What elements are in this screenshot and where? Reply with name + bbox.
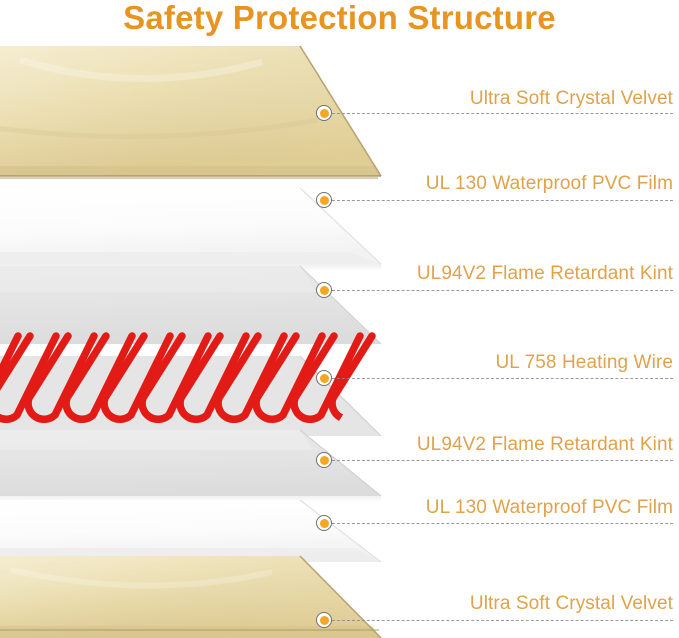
layer-label-knit-top: UL94V2 Flame Retardant Kint — [417, 263, 673, 285]
layer-pvc-bottom — [0, 500, 381, 562]
callout-dot-icon[interactable] — [316, 515, 332, 531]
layer-knit-top — [0, 266, 381, 344]
callout-dot-icon[interactable] — [316, 452, 332, 468]
leader-line — [332, 378, 673, 379]
leader-line — [332, 113, 673, 114]
layer-label-heating-wire: UL 758 Heating Wire — [495, 352, 673, 374]
callout-dot-icon[interactable] — [316, 192, 332, 208]
callout-dot-icon[interactable] — [316, 612, 332, 628]
leader-line — [332, 290, 673, 291]
layer-label-pvc-top: UL 130 Waterproof PVC Film — [426, 173, 673, 195]
leader-line — [332, 460, 673, 461]
layer-label-velvet-bottom: Ultra Soft Crystal Velvet — [470, 593, 673, 615]
layer-label-knit-bottom: UL94V2 Flame Retardant Kint — [417, 434, 673, 456]
callout-dot-icon[interactable] — [316, 282, 332, 298]
layer-heating-wire — [0, 336, 398, 436]
safety-protection-structure-infographic: Safety Protection Structure — [0, 0, 679, 638]
leader-line — [332, 620, 673, 621]
callout-dot-icon[interactable] — [316, 370, 332, 386]
leader-line — [332, 523, 673, 524]
leader-line — [332, 200, 673, 201]
callout-dot-icon[interactable] — [316, 105, 332, 121]
layer-label-velvet-top: Ultra Soft Crystal Velvet — [470, 88, 673, 110]
layer-label-pvc-bottom: UL 130 Waterproof PVC Film — [426, 497, 673, 519]
